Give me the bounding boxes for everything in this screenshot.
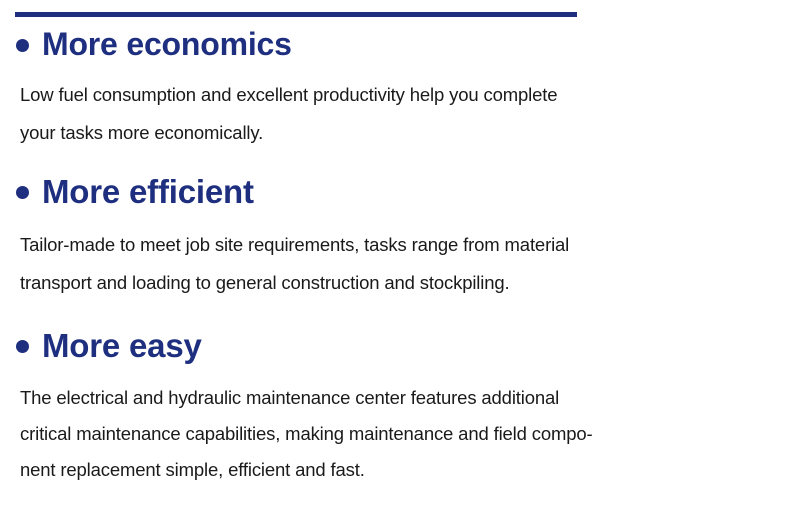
section-heading-label: More economics bbox=[42, 28, 292, 60]
feature-section-easy: More easy The electrical and hydraulic m… bbox=[0, 324, 800, 488]
section-body-easy: The electrical and hydraulic maintenance… bbox=[0, 380, 800, 488]
top-divider-rule bbox=[15, 12, 577, 17]
section-heading-economics: More economics bbox=[0, 24, 800, 64]
feature-section-economics: More economics Low fuel consumption and … bbox=[0, 24, 800, 152]
section-body-economics: Low fuel consumption and excellent produ… bbox=[0, 76, 800, 152]
section-body-efficient: Tailor-made to meet job site requirement… bbox=[0, 226, 800, 302]
feature-section-efficient: More efficient Tailor-made to meet job s… bbox=[0, 170, 800, 302]
section-heading-easy: More easy bbox=[0, 324, 800, 366]
body-line: Tailor-made to meet job site requirement… bbox=[20, 226, 800, 264]
body-line: nent replacement simple, efficient and f… bbox=[20, 452, 800, 488]
body-line: your tasks more economically. bbox=[20, 114, 800, 152]
filled-circle-bullet-icon bbox=[16, 186, 29, 199]
section-heading-label: More easy bbox=[42, 329, 202, 362]
filled-circle-bullet-icon bbox=[16, 340, 29, 353]
filled-circle-bullet-icon bbox=[16, 39, 29, 52]
body-line: The electrical and hydraulic maintenance… bbox=[20, 380, 800, 416]
section-heading-label: More efficient bbox=[42, 175, 254, 208]
section-heading-efficient: More efficient bbox=[0, 170, 800, 212]
feature-list: More economics Low fuel consumption and … bbox=[0, 24, 800, 488]
body-line: Low fuel consumption and excellent produ… bbox=[20, 76, 800, 114]
body-line: transport and loading to general constru… bbox=[20, 264, 800, 302]
document-page: More economics Low fuel consumption and … bbox=[0, 0, 800, 508]
body-line: critical maintenance capabilities, makin… bbox=[20, 416, 800, 452]
